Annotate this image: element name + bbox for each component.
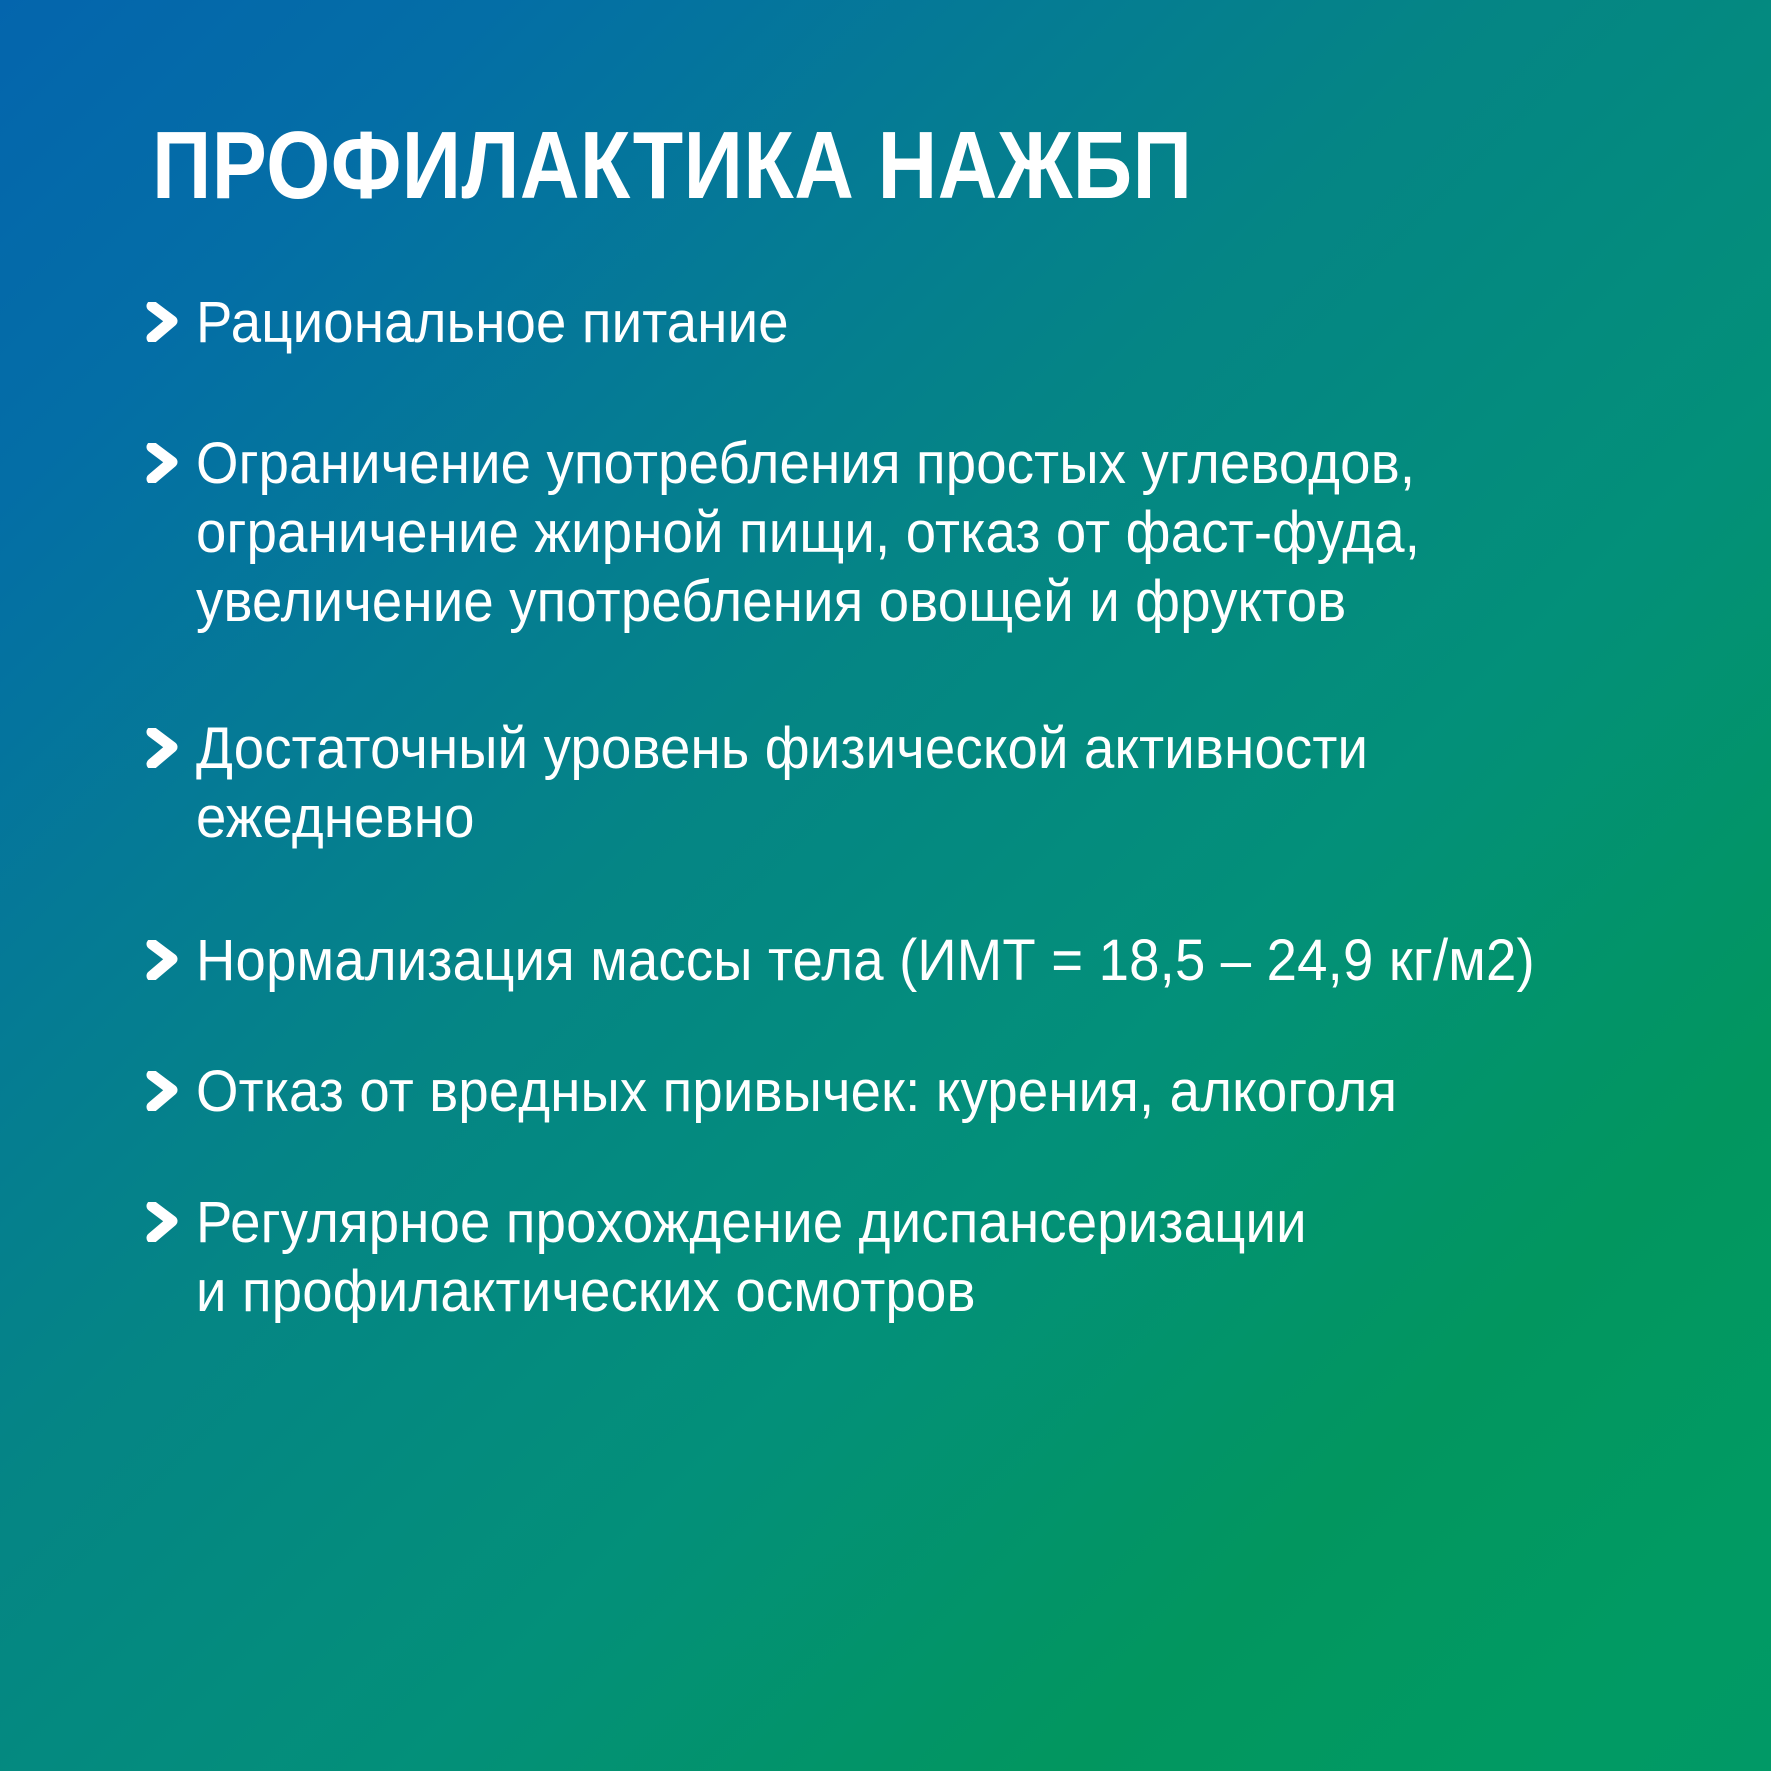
list-item-label: Регулярное прохождение диспансеризации и… bbox=[196, 1188, 1622, 1326]
chevron-right-icon bbox=[146, 940, 180, 980]
chevron-right-icon bbox=[146, 728, 180, 768]
list-item: Регулярное прохождение диспансеризации и… bbox=[146, 1188, 1713, 1326]
chevron-right-icon bbox=[146, 1071, 180, 1111]
poster-canvas: ПРОФИЛАКТИКА НАЖБП Рациональное питание … bbox=[0, 0, 1771, 1771]
chevron-right-icon bbox=[146, 443, 180, 483]
list-item-label: Нормализация массы тела (ИМТ = 18,5 – 24… bbox=[196, 926, 1622, 995]
list-item-label: Отказ от вредных привычек: курения, алко… bbox=[196, 1057, 1622, 1126]
list-item: Достаточный уровень физической активност… bbox=[146, 714, 1713, 852]
chevron-right-icon bbox=[146, 1202, 180, 1242]
list-item: Рациональное питание bbox=[146, 288, 1713, 357]
chevron-right-icon bbox=[146, 302, 180, 342]
list-item: Отказ от вредных привычек: курения, алко… bbox=[146, 1057, 1713, 1126]
list-item-label: Ограничение употребления простых углевод… bbox=[196, 429, 1622, 636]
list-item: Ограничение употребления простых углевод… bbox=[146, 429, 1713, 636]
list-item-label: Достаточный уровень физической активност… bbox=[196, 714, 1622, 852]
list-item-label: Рациональное питание bbox=[196, 288, 1622, 357]
prevention-measures-list: Рациональное питание Ограничение употреб… bbox=[146, 288, 1713, 1326]
page-title: ПРОФИЛАКТИКА НАЖБП bbox=[152, 118, 1467, 214]
list-item: Нормализация массы тела (ИМТ = 18,5 – 24… bbox=[146, 926, 1713, 995]
title-block: ПРОФИЛАКТИКА НАЖБП bbox=[152, 118, 1681, 214]
